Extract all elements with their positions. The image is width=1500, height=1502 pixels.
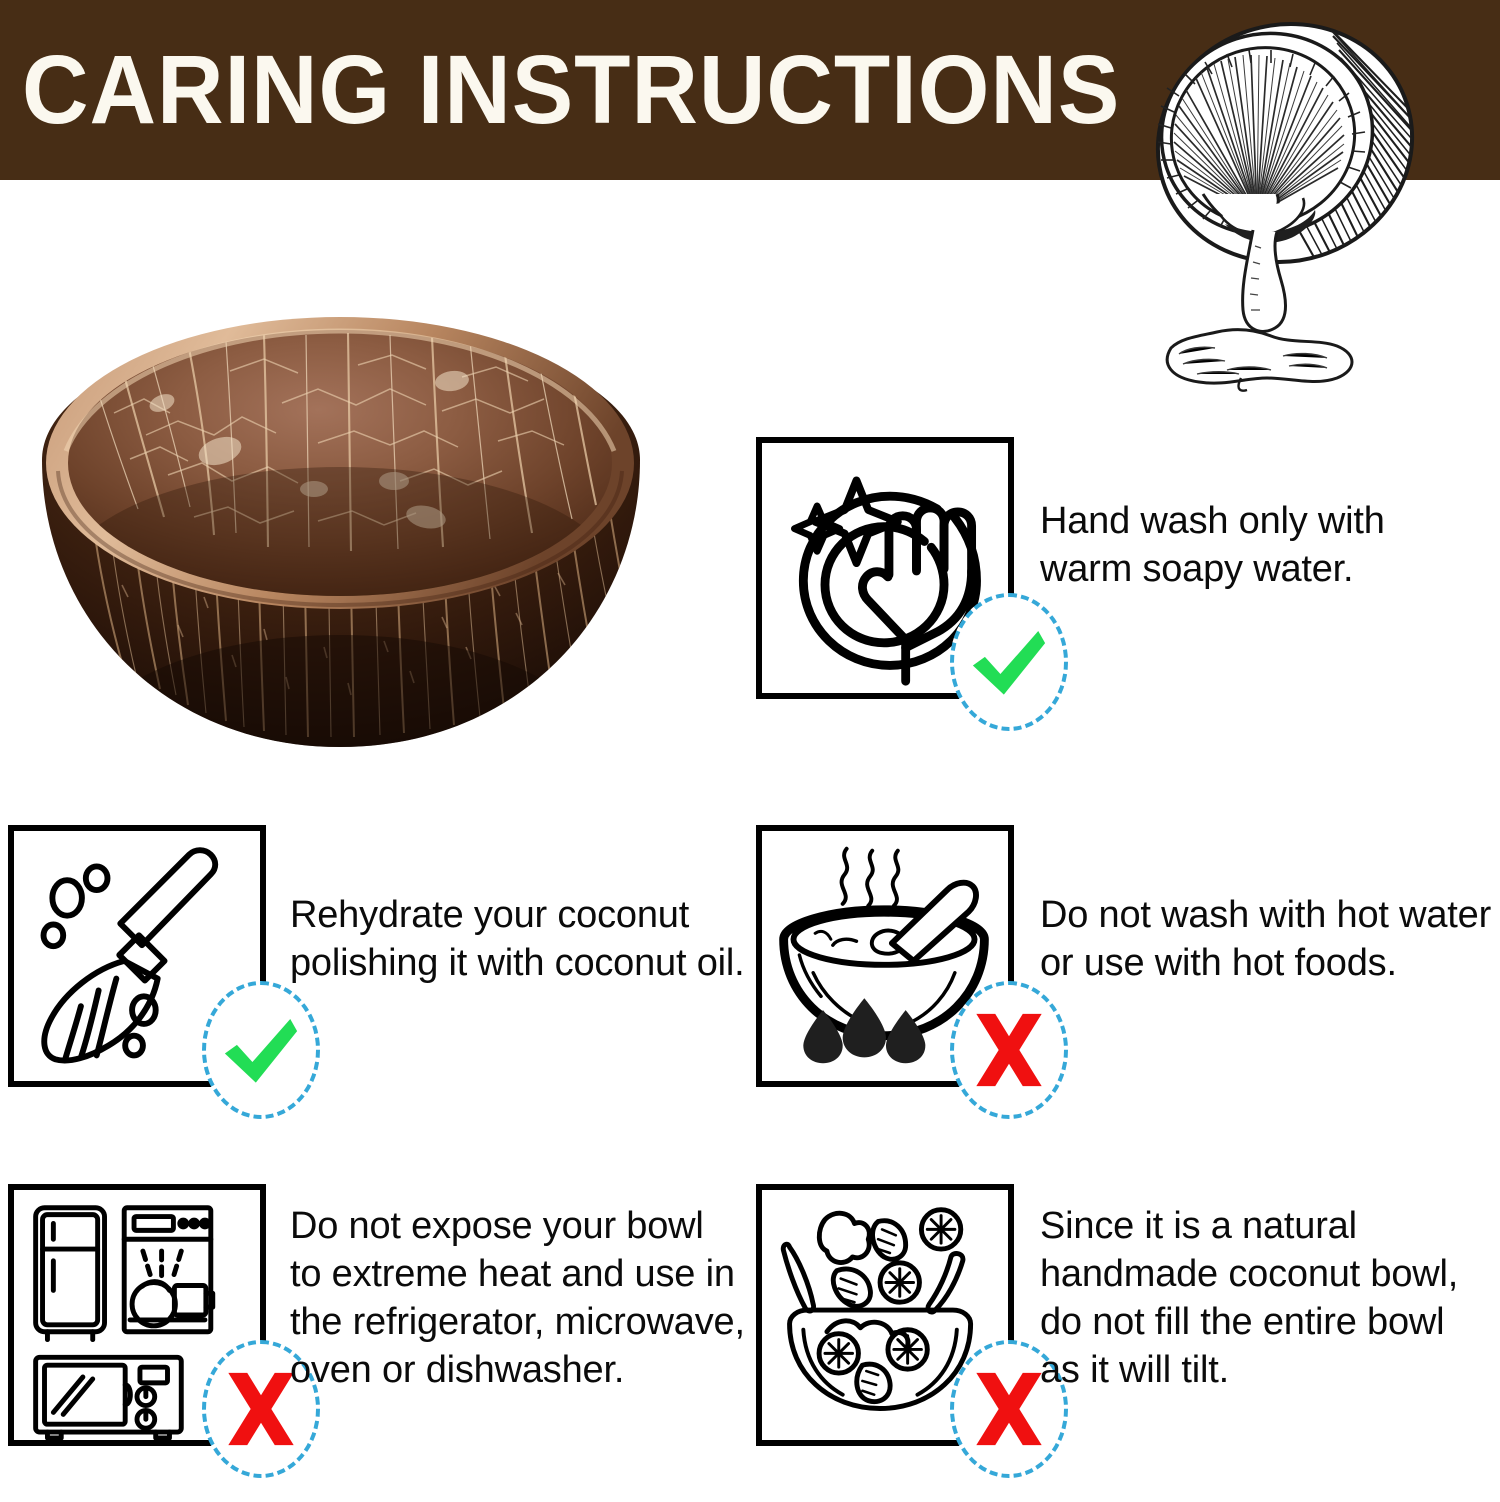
instruction-line: warm soapy water. [1040, 545, 1470, 593]
instruction-line: to extreme heat and use in [290, 1250, 750, 1298]
instruction-line: Do not expose your bowl [290, 1202, 750, 1250]
instruction-text-rehydrate: Rehydrate your coconut polishing it with… [290, 891, 750, 987]
check-icon [950, 593, 1068, 731]
instruction-text-hotwater: Do not wash with hot water or use with h… [1040, 891, 1500, 987]
instruction-panel-overfill: Since it is a natural handmade coconut b… [748, 1172, 1478, 1502]
instruction-line: Hand wash only with [1040, 497, 1470, 545]
instruction-line: oven or dishwasher. [290, 1346, 750, 1394]
instruction-line: the refrigerator, microwave, [290, 1298, 750, 1346]
instruction-line: handmade coconut bowl, [1040, 1250, 1500, 1298]
instruction-line: Rehydrate your coconut [290, 891, 750, 939]
cross-icon [950, 981, 1068, 1119]
instruction-text-overfill: Since it is a natural handmade coconut b… [1040, 1202, 1500, 1394]
instruction-text-appliance: Do not expose your bowl to extreme heat … [290, 1202, 750, 1394]
instruction-line: polishing it with coconut oil. [290, 939, 750, 987]
instruction-line: as it will tilt. [1040, 1346, 1500, 1394]
fridge-icon [36, 1208, 105, 1332]
instruction-line: Since it is a natural [1040, 1202, 1500, 1250]
check-icon [202, 981, 320, 1119]
instruction-panel-rehydrate: Rehydrate your coconut polishing it with… [0, 813, 730, 1143]
instruction-panel-hotwater: Do not wash with hot water or use with h… [748, 813, 1478, 1143]
status-badge-cross [950, 981, 1068, 1119]
instruction-panel-appliance: Do not expose your bowl to extreme heat … [0, 1172, 730, 1502]
status-badge-check [950, 593, 1068, 731]
cracked-coconut-sketch [1075, 18, 1475, 393]
instruction-line: Do not wash with hot water [1040, 891, 1500, 939]
instruction-text-handwash: Hand wash only with warm soapy water. [1040, 497, 1470, 593]
coconut-bowl-photo [18, 285, 663, 760]
status-badge-check [202, 981, 320, 1119]
instruction-line: do not fill the entire bowl [1040, 1298, 1500, 1346]
page-title: CARING INSTRUCTIONS [22, 38, 1120, 142]
instruction-line: or use with hot foods. [1040, 939, 1500, 987]
instruction-panel-handwash: Hand wash only with warm soapy water. [748, 425, 1478, 755]
